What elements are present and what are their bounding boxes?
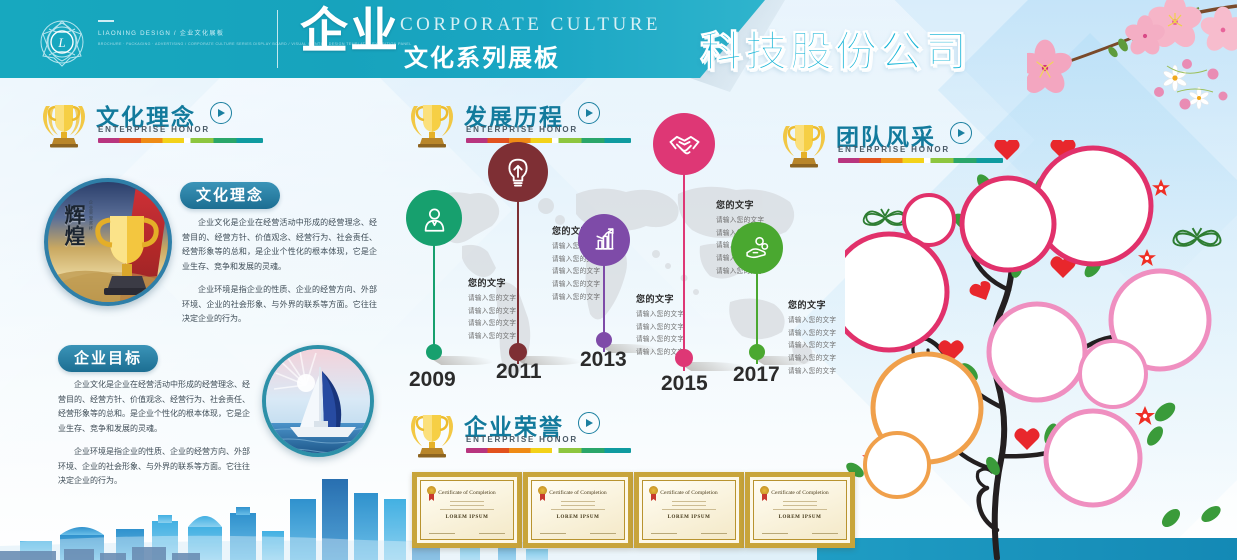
timeline-line-list: 请输入您的文字请输入您的文字请输入您的文字请输入您的文字 bbox=[636, 309, 708, 360]
certificate-rule bbox=[561, 505, 595, 506]
section-colorbar-honor bbox=[466, 448, 631, 453]
culture-paragraph-1: 企业文化是企业在经营活动中形成的经营理念、经营目的、经营方针、价值观念、经营行为… bbox=[182, 216, 377, 274]
timeline-marker-2013[interactable] bbox=[578, 214, 630, 266]
certificate-recipient: LOREM IPSUM bbox=[650, 515, 728, 520]
timeline-title: 您的文字 bbox=[788, 298, 860, 311]
logo-tagline: LIAONING DESIGN / 企业文化展板 bbox=[98, 28, 258, 37]
certificate-rule bbox=[440, 509, 494, 510]
certificate-rule bbox=[551, 509, 605, 510]
goal-body-text: 企业文化是企业在经营活动中形成的经营理念、经营目的、经营方针、价值观念、经营行为… bbox=[58, 378, 250, 489]
certificate-rule bbox=[450, 501, 484, 502]
handshake-icon bbox=[668, 128, 701, 161]
goal-paragraph-2: 企业环境是指企业的性质、企业的经营方向、外部环境、企业的社会形象、与外界的联系等… bbox=[58, 445, 250, 489]
lightbulb-icon bbox=[502, 156, 534, 188]
timeline-line: 请输入您的文字 bbox=[468, 318, 540, 331]
certificate-seal-icon bbox=[427, 486, 436, 495]
timeline-endpoint bbox=[596, 332, 612, 348]
timeline-year-2017: 2017 bbox=[733, 363, 780, 387]
certificate-card[interactable]: Certificate of Completion LOREM IPSUM bbox=[523, 472, 633, 548]
timeline-stem bbox=[517, 200, 519, 364]
trophy-icon bbox=[38, 98, 90, 148]
certificate-signatures bbox=[762, 533, 838, 534]
culture-paragraph-2: 企业环境是指企业的性质、企业的经营方向、外部环境、企业的社会形象、与外界的联系等… bbox=[182, 283, 377, 327]
timeline-marker-2015[interactable] bbox=[653, 113, 715, 175]
arrow-icon-history[interactable] bbox=[578, 102, 600, 124]
page-title: 科技股份公司 bbox=[700, 18, 970, 79]
timeline-stem bbox=[433, 244, 435, 352]
timeline-endpoint bbox=[749, 344, 765, 360]
timeline-marker-2009[interactable] bbox=[406, 190, 462, 246]
signature-line bbox=[540, 533, 566, 534]
timeline-line-list: 请输入您的文字请输入您的文字请输入您的文字请输入您的文字请输入您的文字 bbox=[788, 315, 860, 378]
logo-text-block: LIAONING DESIGN / 企业文化展板 BROCHURE · PACK… bbox=[98, 20, 258, 48]
certificate-rule bbox=[561, 501, 595, 502]
signature-line bbox=[651, 533, 677, 534]
arrow-icon-honor[interactable] bbox=[578, 412, 600, 434]
timeline-line: 请输入您的文字 bbox=[636, 334, 708, 347]
trophy-icon bbox=[778, 118, 830, 168]
timeline-line: 请输入您的文字 bbox=[788, 315, 860, 328]
corporate-culture-cn: 文化系列展板 bbox=[404, 38, 560, 73]
certificate-seal-icon bbox=[538, 486, 547, 495]
signature-line bbox=[590, 533, 616, 534]
arrow-icon-culture[interactable] bbox=[210, 102, 232, 124]
person-icon bbox=[420, 204, 449, 233]
team-photo-frame[interactable] bbox=[865, 433, 929, 497]
timeline-endpoint bbox=[426, 344, 442, 360]
timeline-text-2017: 您的文字请输入您的文字请输入您的文字请输入您的文字请输入您的文字请输入您的文字 bbox=[788, 298, 860, 378]
arrow-icon-team[interactable] bbox=[950, 122, 972, 144]
signature-line bbox=[429, 533, 455, 534]
timeline-year-2013: 2013 bbox=[580, 348, 627, 372]
cherry-blossom-decoration bbox=[1027, 0, 1237, 120]
timeline-line: 请输入您的文字 bbox=[636, 347, 708, 360]
certificate-recipient: LOREM IPSUM bbox=[539, 515, 617, 520]
team-photo-tree bbox=[845, 140, 1237, 560]
section-colorbar-team bbox=[838, 158, 1003, 163]
certificate-rule bbox=[783, 501, 817, 502]
section-colorbar-culture bbox=[98, 138, 263, 143]
goal-paragraph-1: 企业文化是企业在经营活动中形成的经营理念、经营目的、经营方针、价值观念、经营行为… bbox=[58, 378, 250, 436]
trophy-icon bbox=[406, 98, 458, 148]
timeline-endpoint bbox=[675, 349, 693, 367]
team-photo-frame[interactable] bbox=[845, 234, 947, 350]
photo-trophy-circle: 辉煌 企业荣誉奖杯 bbox=[44, 178, 172, 306]
section-subtitle-history: ENTERPRISE HONOR bbox=[466, 125, 578, 134]
certificate-title: Certificate of Completion bbox=[428, 490, 506, 496]
certificate-inner: Certificate of Completion LOREM IPSUM bbox=[531, 480, 625, 540]
enterprise-title-cn: 企业 bbox=[300, 8, 400, 56]
certificate-rule bbox=[773, 509, 827, 510]
certificate-signatures bbox=[651, 533, 727, 534]
company-logo-icon: L bbox=[36, 16, 88, 68]
timeline-stem bbox=[683, 173, 685, 371]
pill-enterprise-goal: 企业目标 bbox=[58, 345, 158, 372]
timeline-title: 您的文字 bbox=[468, 276, 540, 289]
timeline-year-2015: 2015 bbox=[661, 372, 708, 396]
timeline-line: 请输入您的文字 bbox=[468, 306, 540, 319]
certificate-inner: Certificate of Completion LOREM IPSUM bbox=[753, 480, 847, 540]
timeline-marker-2017[interactable] bbox=[731, 222, 783, 274]
certificate-rule bbox=[672, 501, 706, 502]
certificate-seal-icon bbox=[649, 486, 658, 495]
section-colorbar-history bbox=[466, 138, 631, 143]
timeline-line: 请输入您的文字 bbox=[552, 292, 624, 305]
timeline-year-2011: 2011 bbox=[496, 360, 542, 384]
timeline-line: 请输入您的文字 bbox=[636, 322, 708, 335]
certificate-seal-icon bbox=[760, 486, 769, 495]
signature-line bbox=[812, 533, 838, 534]
sailboat-graphic bbox=[266, 349, 374, 457]
team-photo-frame[interactable] bbox=[989, 304, 1085, 400]
timeline-line: 请输入您的文字 bbox=[468, 331, 540, 344]
certificate-card[interactable]: Certificate of Completion LOREM IPSUM bbox=[412, 472, 522, 548]
timeline-line-list: 请输入您的文字请输入您的文字请输入您的文字请输入您的文字 bbox=[468, 293, 540, 344]
timeline-endpoint bbox=[509, 343, 527, 361]
team-photo-frame[interactable] bbox=[962, 178, 1054, 270]
photo-sailboat-circle bbox=[262, 345, 374, 457]
certificate-card[interactable]: Certificate of Completion LOREM IPSUM bbox=[745, 472, 855, 548]
certificate-signatures bbox=[540, 533, 616, 534]
signature-line bbox=[479, 533, 505, 534]
timeline-line: 请输入您的文字 bbox=[636, 309, 708, 322]
timeline-line: 请输入您的文字 bbox=[788, 353, 860, 366]
certificate-rule bbox=[450, 505, 484, 506]
certificate-inner: Certificate of Completion LOREM IPSUM bbox=[420, 480, 514, 540]
svg-text:L: L bbox=[57, 35, 65, 50]
hand-coins-icon bbox=[744, 235, 771, 262]
pill-culture-concept: 文化理念 bbox=[180, 182, 280, 209]
timeline-line: 请输入您的文字 bbox=[788, 366, 860, 379]
signature-line bbox=[762, 533, 788, 534]
header-divider bbox=[277, 10, 278, 68]
certificate-inner: Certificate of Completion LOREM IPSUM bbox=[642, 480, 736, 540]
certificate-title: Certificate of Completion bbox=[539, 490, 617, 496]
timeline-year-2009: 2009 bbox=[409, 368, 456, 392]
certificate-card[interactable]: Certificate of Completion LOREM IPSUM bbox=[634, 472, 744, 548]
certificate-recipient: LOREM IPSUM bbox=[761, 515, 839, 520]
section-subtitle-honor: ENTERPRISE HONOR bbox=[466, 435, 578, 444]
gold-trophy-graphic bbox=[48, 182, 172, 306]
certificate-rule bbox=[783, 505, 817, 506]
certificate-title: Certificate of Completion bbox=[650, 490, 728, 496]
timeline-text-2009: 您的文字请输入您的文字请输入您的文字请输入您的文字请输入您的文字 bbox=[468, 276, 540, 344]
bar-chart-icon bbox=[591, 227, 618, 254]
timeline-title: 您的文字 bbox=[636, 292, 708, 305]
timeline-line: 请输入您的文字 bbox=[552, 266, 624, 279]
logo-subtagline: BROCHURE · PACKAGING · ADVERTISING / COR… bbox=[98, 42, 258, 48]
logo-dash bbox=[98, 20, 114, 22]
timeline-line: 请输入您的文字 bbox=[552, 279, 624, 292]
section-subtitle-culture: ENTERPRISE HONOR bbox=[98, 125, 210, 134]
section-subtitle-team: ENTERPRISE HONOR bbox=[838, 145, 950, 154]
trophy-icon bbox=[406, 408, 458, 458]
team-photo-frame[interactable] bbox=[1080, 341, 1146, 407]
certificate-rule bbox=[672, 505, 706, 506]
timeline-line: 请输入您的文字 bbox=[788, 340, 860, 353]
corporate-culture-en: CORPORATE CULTURE bbox=[400, 14, 661, 36]
timeline-line: 请输入您的文字 bbox=[468, 293, 540, 306]
certificate-recipient: LOREM IPSUM bbox=[428, 515, 506, 520]
timeline-line: 请输入您的文字 bbox=[788, 328, 860, 341]
team-photo-frame[interactable] bbox=[1046, 411, 1140, 505]
culture-display-board: L LIAONING DESIGN / 企业文化展板 BROCHURE · PA… bbox=[0, 0, 1237, 560]
timeline-marker-2011[interactable] bbox=[488, 142, 548, 202]
timeline-text-2013: 您的文字请输入您的文字请输入您的文字请输入您的文字请输入您的文字 bbox=[636, 292, 708, 360]
certificate-title: Certificate of Completion bbox=[761, 490, 839, 496]
timeline-title: 您的文字 bbox=[716, 198, 788, 211]
certificate-rule bbox=[662, 509, 716, 510]
certificate-signatures bbox=[429, 533, 505, 534]
culture-body-text: 企业文化是企业在经营活动中形成的经营理念、经营目的、经营方针、价值观念、经营行为… bbox=[182, 216, 377, 327]
signature-line bbox=[701, 533, 727, 534]
